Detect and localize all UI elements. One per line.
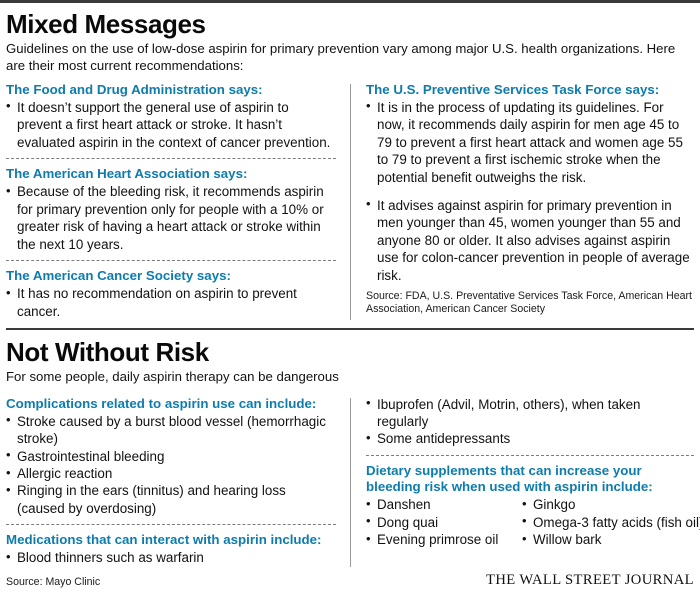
list-item: Evening primrose oil: [366, 531, 514, 548]
dashed-divider: [6, 524, 336, 525]
supplements-list-a: Danshen Dong quai Evening primrose oil: [366, 496, 514, 548]
list-item: It is in the process of updating its gui…: [366, 99, 694, 186]
block-subhead: The American Cancer Society says:: [6, 268, 336, 284]
block-aha: The American Heart Association says: Bec…: [6, 166, 336, 253]
block-acs: The American Cancer Society says: It has…: [6, 268, 336, 320]
block-bullet-list: Because of the bleeding risk, it recomme…: [6, 183, 336, 253]
supplements-two-column-list: Danshen Dong quai Evening primrose oil G…: [366, 496, 694, 548]
list-item: It advises against aspirin for primary p…: [366, 197, 694, 284]
block-bullet-list: Blood thinners such as warfarin: [6, 549, 336, 566]
block-medications: Medications that can interact with aspir…: [6, 532, 336, 567]
block-subhead: Complications related to aspirin use can…: [6, 396, 336, 412]
page-title: Mixed Messages: [6, 11, 694, 38]
dashed-divider: [6, 158, 336, 159]
left-column: The Food and Drug Administration says: I…: [6, 82, 350, 320]
two-column-body: The Food and Drug Administration says: I…: [6, 82, 694, 320]
right-column: Ibuprofen (Advil, Motrin, others), when …: [350, 396, 694, 567]
dashed-divider: [366, 455, 694, 456]
list-item: Omega-3 fatty acids (fish oil): [522, 514, 700, 531]
block-subhead: The American Heart Association says:: [6, 166, 336, 182]
list-item: Danshen: [366, 496, 514, 513]
block-subhead: Medications that can interact with aspir…: [6, 532, 336, 548]
section-title: Not Without Risk: [6, 339, 694, 366]
dashed-divider: [6, 260, 336, 261]
list-item: It doesn’t support the general use of as…: [6, 99, 336, 151]
block-bullet-list: It has no recommendation on aspirin to p…: [6, 285, 336, 320]
list-item: Blood thinners such as warfarin: [6, 549, 336, 566]
list-item: Stroke caused by a burst blood vessel (h…: [6, 413, 336, 448]
interaction-bullet-list: Ibuprofen (Advil, Motrin, others), when …: [366, 396, 694, 448]
list-item: It has no recommendation on aspirin to p…: [6, 285, 336, 320]
block-bullet-list: Stroke caused by a burst blood vessel (h…: [6, 413, 336, 518]
list-item: Allergic reaction: [6, 465, 336, 482]
column-divider: [350, 398, 351, 567]
column-divider: [350, 84, 351, 320]
block-subhead: The U.S. Preventive Services Task Force …: [366, 82, 694, 98]
block-subhead: Dietary supplements that can increase yo…: [366, 463, 694, 495]
two-column-body: Complications related to aspirin use can…: [6, 396, 694, 567]
right-column: The U.S. Preventive Services Task Force …: [350, 82, 694, 320]
list-item: Ginkgo: [522, 496, 700, 513]
list-item: Ibuprofen (Advil, Motrin, others), when …: [366, 396, 694, 431]
block-bullet-list: It doesn’t support the general use of as…: [6, 99, 336, 151]
infographic-page: Mixed Messages Guidelines on the use of …: [0, 0, 700, 595]
source-note: Source: FDA, U.S. Preventative Services …: [366, 290, 694, 316]
list-item: Dong quai: [366, 514, 514, 531]
section-mixed-messages: Mixed Messages Guidelines on the use of …: [6, 11, 694, 320]
supplements-list-b: Ginkgo Omega-3 fatty acids (fish oil) Wi…: [522, 496, 700, 548]
list-item: Ringing in the ears (tinnitus) and heari…: [6, 482, 336, 517]
list-item: Some antidepressants: [366, 430, 694, 447]
block-bullet-list: It is in the process of updating its gui…: [366, 99, 694, 284]
block-fda: The Food and Drug Administration says: I…: [6, 82, 336, 151]
list-item: Because of the bleeding risk, it recomme…: [6, 183, 336, 253]
source-note: Source: Mayo Clinic: [6, 576, 100, 588]
list-item: Willow bark: [522, 531, 700, 548]
block-complications: Complications related to aspirin use can…: [6, 396, 336, 518]
section-divider: [6, 328, 694, 330]
block-subhead: The Food and Drug Administration says:: [6, 82, 336, 98]
section-subtitle: Guidelines on the use of low-dose aspiri…: [6, 40, 694, 74]
left-column: Complications related to aspirin use can…: [6, 396, 350, 567]
section-not-without-risk: Not Without Risk For some people, daily …: [6, 339, 694, 567]
section-subtitle: For some people, daily aspirin therapy c…: [6, 368, 694, 385]
list-item: Gastrointestinal bleeding: [6, 448, 336, 465]
wsj-logo: THE WALL STREET JOURNAL: [486, 572, 694, 589]
